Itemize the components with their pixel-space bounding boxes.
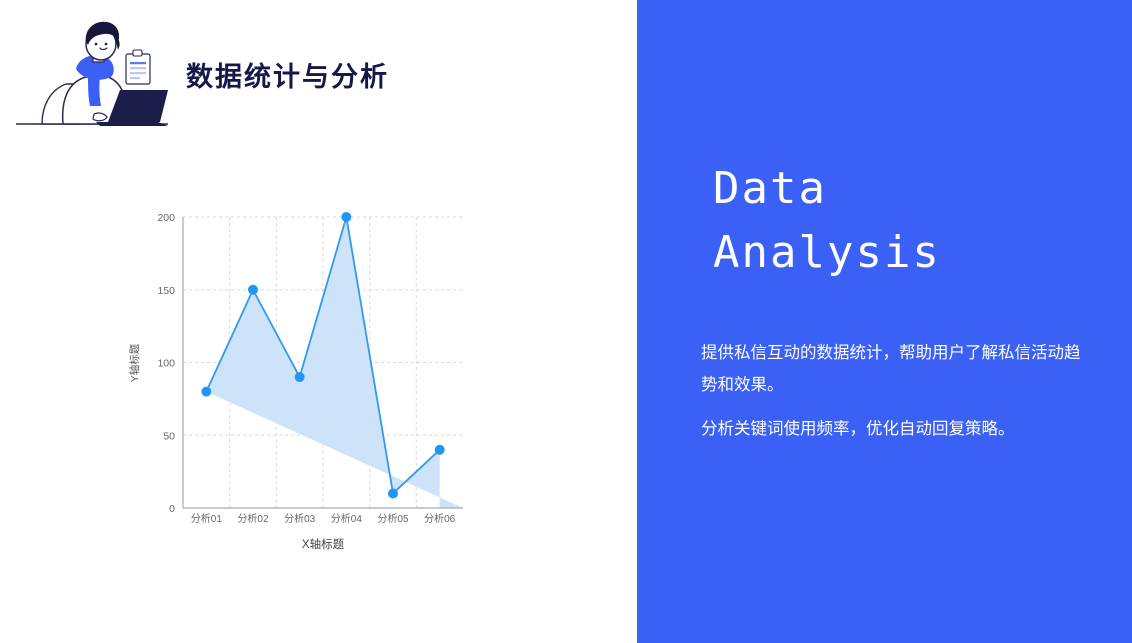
slide-header: 数据统计与分析 bbox=[0, 14, 637, 134]
y-tick-label: 100 bbox=[157, 358, 175, 370]
data-point-4[interactable] bbox=[341, 212, 351, 222]
y-tick-label: 0 bbox=[169, 503, 175, 515]
y-tick-label: 50 bbox=[163, 430, 175, 442]
y-tick-label: 200 bbox=[157, 212, 175, 224]
data-point-6[interactable] bbox=[435, 445, 445, 455]
x-tick-label: 分析04 bbox=[331, 512, 363, 525]
right-accent-panel: Data Analysis 提供私信互动的数据统计，帮助用户了解私信活动趋势和效… bbox=[637, 0, 1132, 643]
x-tick-label: 分析01 bbox=[191, 512, 223, 525]
slide-root: 数据统计与分析 05010015 bbox=[0, 0, 1132, 643]
x-axis-title: X轴标题 bbox=[302, 537, 345, 551]
section-heading-line2: Analysis bbox=[713, 221, 1113, 285]
clipboard-icon bbox=[126, 50, 150, 84]
y-axis-title: Y轴标题 bbox=[128, 343, 141, 382]
y-axis-tick-labels: 050100150200 bbox=[157, 212, 175, 515]
data-point-5[interactable] bbox=[388, 488, 398, 498]
x-tick-label: 分析02 bbox=[237, 512, 269, 525]
data-point-2[interactable] bbox=[248, 285, 258, 295]
x-axis-tick-labels: 分析01分析02分析03分析04分析05分析06 bbox=[191, 512, 456, 525]
section-heading: Data Analysis bbox=[713, 157, 1113, 285]
data-point-3[interactable] bbox=[295, 372, 305, 382]
x-tick-label: 分析05 bbox=[377, 512, 409, 525]
data-point-1[interactable] bbox=[201, 387, 211, 397]
x-tick-label: 分析03 bbox=[284, 512, 316, 525]
person-at-laptop-illustration bbox=[8, 14, 178, 134]
description-paragraph: 提供私信互动的数据统计，帮助用户了解私信活动趋势和效果。 bbox=[701, 337, 1093, 401]
line-area-chart: 050100150200 分析01分析02分析03分析04分析05分析06 Y轴… bbox=[120, 198, 520, 568]
y-tick-label: 150 bbox=[157, 285, 175, 297]
chart-svg: 050100150200 分析01分析02分析03分析04分析05分析06 Y轴… bbox=[120, 198, 520, 568]
description-paragraph: 分析关键词使用频率，优化自动回复策略。 bbox=[701, 413, 1093, 445]
page-title: 数据统计与分析 bbox=[186, 55, 389, 94]
left-content-panel: 数据统计与分析 05010015 bbox=[0, 0, 637, 643]
section-heading-line1: Data bbox=[713, 157, 1113, 221]
x-tick-label: 分析06 bbox=[424, 512, 456, 525]
description-text: 提供私信互动的数据统计，帮助用户了解私信活动趋势和效果。 分析关键词使用频率，优… bbox=[701, 337, 1093, 445]
